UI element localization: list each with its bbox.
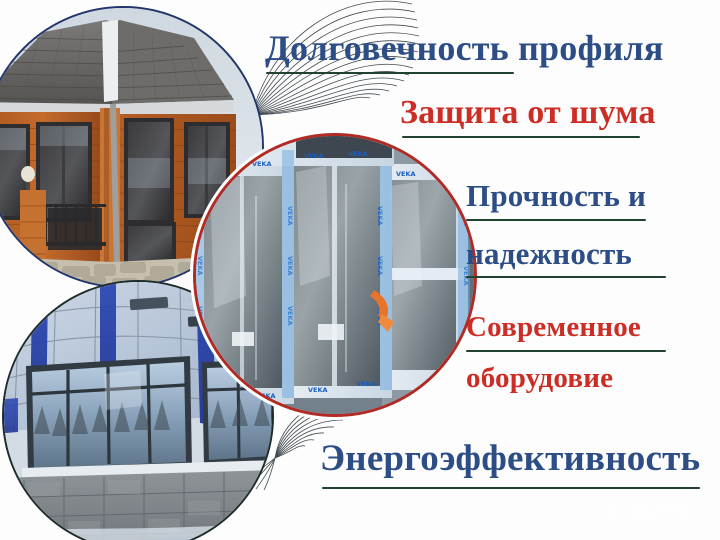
headline-rule-3 [466,219,646,221]
veka-film-label: VEKA [210,162,230,170]
headline-rule-6 [322,487,700,489]
veka-film-label: VEKA [308,386,328,394]
veka-film-label: VEKA [210,386,230,394]
veka-film-label: VEKA [348,150,368,158]
headline-noise-protection: Защита от шума [400,96,656,130]
headline-strength: Прочность и [466,180,646,211]
headline-equipment: оборудовие [466,364,613,393]
avito-watermark: Avito [604,500,694,523]
veka-film-label: VEKA [396,170,416,178]
avito-wordmark: Avito [630,500,694,523]
advertisement-banner: VEKA VEKA VEKA VEKA VEKA VEKA VEKA VEKA … [0,0,720,540]
headline-durability: Долговечность профиля [265,30,664,66]
headline-rule-1 [266,72,514,74]
veka-film-label: VEKA [356,380,376,388]
veka-film-label: VEKA [436,174,456,182]
photo-pvc-windows-image: VEKA VEKA VEKA VEKA VEKA VEKA VEKA VEKA … [196,136,474,414]
headline-rule-2 [402,136,640,138]
avito-dots-icon [604,503,626,521]
veka-film-label: VEKA [256,392,276,400]
headline-modern: Современное [466,313,641,342]
photo-pvc-windows: VEKA VEKA VEKA VEKA VEKA VEKA VEKA VEKA … [193,133,477,417]
veka-film-label: VEKA [252,160,272,168]
headline-rule-4 [466,276,666,278]
headline-rule-5 [466,350,666,352]
veka-film-label: VEKA [304,152,324,160]
headline-energy-efficiency: Энергоэффективность [320,440,700,477]
headline-reliability: надежность [466,238,632,269]
